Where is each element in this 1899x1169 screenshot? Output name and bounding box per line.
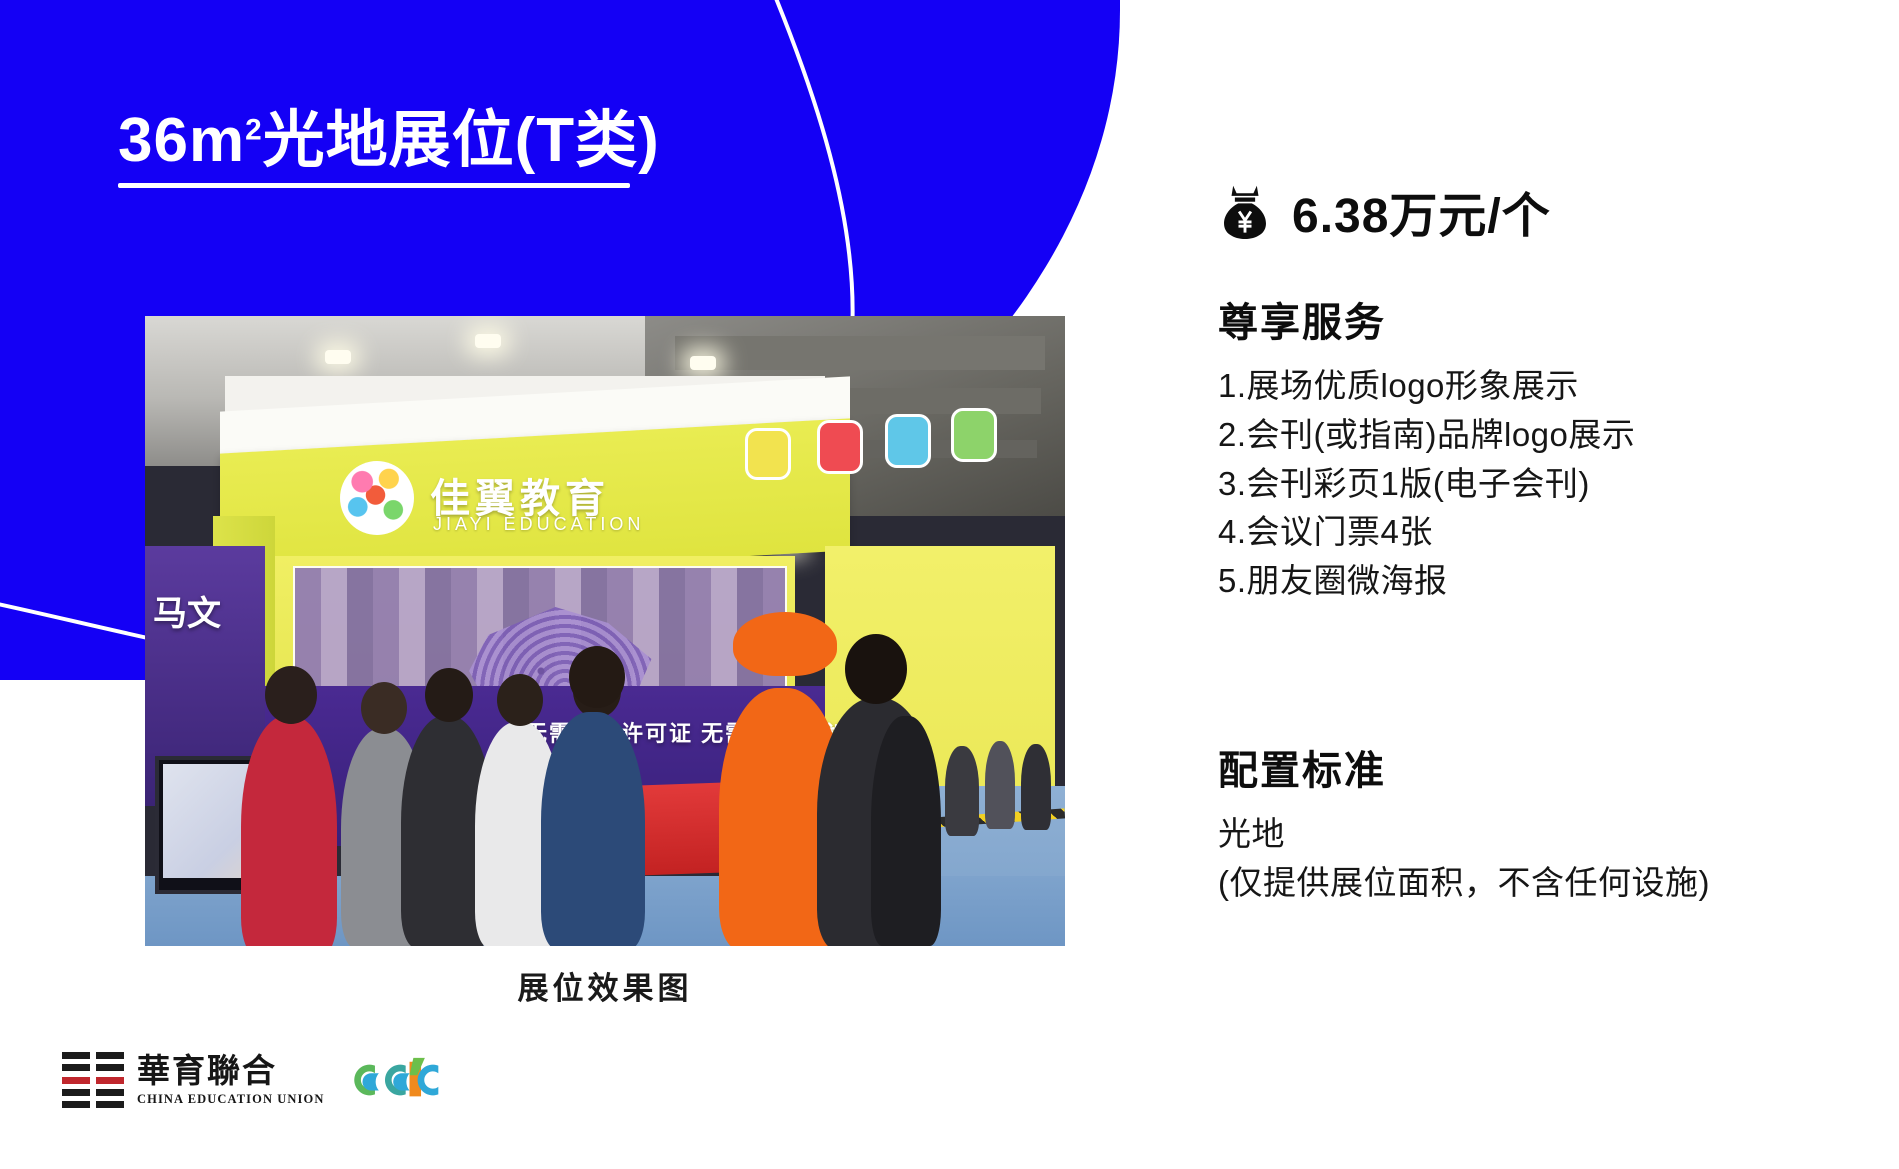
photo-person-head (425, 668, 473, 722)
footer-logos: 華育聯合 CHINA EDUCATION UNION (62, 1052, 446, 1108)
services-heading: 尊享服务 (1218, 290, 1635, 348)
service-item: 4.会议门票4张 (1218, 508, 1635, 557)
service-item: 1.展场优质logo形象展示 (1218, 362, 1635, 411)
photo-person (241, 716, 337, 946)
title-underline (118, 183, 630, 188)
trigram-icon (62, 1052, 124, 1108)
photo-booth-logo-icon (340, 461, 414, 535)
service-item: 5.朋友圈微海报 (1218, 557, 1635, 606)
price-row: 6.38万元/个 (1218, 176, 1551, 246)
cec-logo-icon (350, 1052, 446, 1108)
ceu-name-en: CHINA EDUCATION UNION (137, 1093, 324, 1106)
photo-neighbor-logo: 马文 (153, 586, 221, 635)
booth-photo: 佳翼教育 JIAYI EDUCATION 马文 无需办学许可证 无需自有规划 (145, 316, 1065, 946)
photo-person (541, 712, 645, 946)
photo-mascot-icon (745, 428, 791, 480)
photo-booth-brand-en: JIAYI EDUCATION (433, 514, 644, 535)
photo-person (1021, 744, 1051, 830)
photo-caption: 展位效果图 (145, 963, 1065, 1008)
photo-person (945, 746, 979, 836)
photo-person-head (265, 666, 317, 724)
photo-lamp (690, 356, 716, 370)
photo-lamp (325, 350, 351, 364)
slide-root: 36m2光地展位(T类) 佳翼教育 JIAYI EDUCATION 马文 无需办… (0, 0, 1899, 1169)
money-bag-icon (1218, 182, 1272, 240)
services-list: 1.展场优质logo形象展示 2.会刊(或指南)品牌logo展示 3.会刊彩页1… (1218, 362, 1635, 606)
config-lines: 光地 (仅提供展位面积，不含任何设施) (1218, 810, 1710, 908)
ceu-name-cn: 華育聯合 (137, 1054, 324, 1087)
photo-mascot-icon (817, 420, 863, 474)
title-unit-exponent: 2 (245, 113, 263, 146)
photo-mascot-icon (951, 408, 997, 462)
service-item: 2.会刊(或指南)品牌logo展示 (1218, 411, 1635, 460)
photo-person-head (845, 634, 907, 704)
title-unit: m (189, 106, 245, 175)
photo-mascot-icon (885, 414, 931, 468)
config-section: 配置标准 光地 (仅提供展位面积，不含任何设施) (1218, 738, 1710, 908)
config-line: 光地 (1218, 810, 1710, 859)
photo-person (985, 741, 1015, 829)
config-line: (仅提供展位面积，不含任何设施) (1218, 859, 1710, 908)
title-rest: 光地展位(T类) (263, 106, 660, 175)
title-number: 36 (118, 106, 189, 175)
china-education-union-logo: 華育聯合 CHINA EDUCATION UNION (62, 1052, 324, 1108)
photo-person-head (361, 682, 407, 734)
config-heading: 配置标准 (1218, 738, 1710, 796)
photo-orange-cap (733, 612, 837, 676)
page-title-text: 36m2光地展位(T类) (118, 108, 660, 173)
page-title: 36m2光地展位(T类) (118, 108, 660, 188)
photo-person (871, 716, 941, 946)
photo-person-head (497, 674, 543, 726)
price-value: 6.38万元/个 (1292, 176, 1551, 246)
service-item: 3.会刊彩页1版(电子会刊) (1218, 460, 1635, 509)
photo-person-head (569, 646, 625, 708)
services-section: 尊享服务 1.展场优质logo形象展示 2.会刊(或指南)品牌logo展示 3.… (1218, 290, 1635, 606)
photo-lamp (475, 334, 501, 348)
photo-ceiling-duct (675, 336, 1045, 370)
